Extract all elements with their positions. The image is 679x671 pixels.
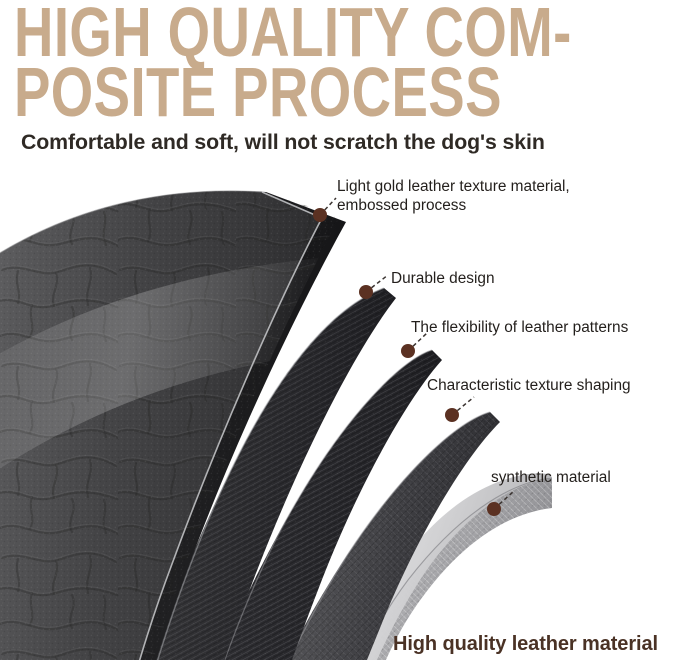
- page-title: HIGH QUALITY COM- POSITE PROCESS: [14, 2, 529, 122]
- layered-material-graphic: [0, 160, 679, 660]
- annotation-label-leather-flexibility: The flexibility of leather patterns: [411, 319, 628, 338]
- footer-caption: High quality leather material: [393, 633, 658, 656]
- annotation-line-1: Characteristic texture shaping: [427, 377, 631, 394]
- annotation-line-1: Durable design: [391, 270, 495, 287]
- annotation-label-synthetic-material: synthetic material: [491, 469, 611, 488]
- annotation-label-texture-shaping: Characteristic texture shaping: [427, 377, 631, 396]
- annotation-label-light-gold-leather: Light gold leather texture material, emb…: [337, 178, 570, 216]
- annotation-line-1: The flexibility of leather patterns: [411, 319, 628, 336]
- product-illustration: [0, 160, 679, 660]
- annotation-line-2: embossed process: [337, 197, 570, 216]
- annotation-line-1: Light gold leather texture material,: [337, 178, 570, 195]
- annotation-label-durable-design: Durable design: [391, 270, 495, 289]
- annotation-line-1: synthetic material: [491, 469, 611, 486]
- page-title-line-2: POSITE PROCESS: [14, 62, 529, 122]
- infographic-page: HIGH QUALITY COM- POSITE PROCESS Comfort…: [0, 0, 679, 671]
- page-subtitle: Comfortable and soft, will not scratch t…: [21, 130, 545, 155]
